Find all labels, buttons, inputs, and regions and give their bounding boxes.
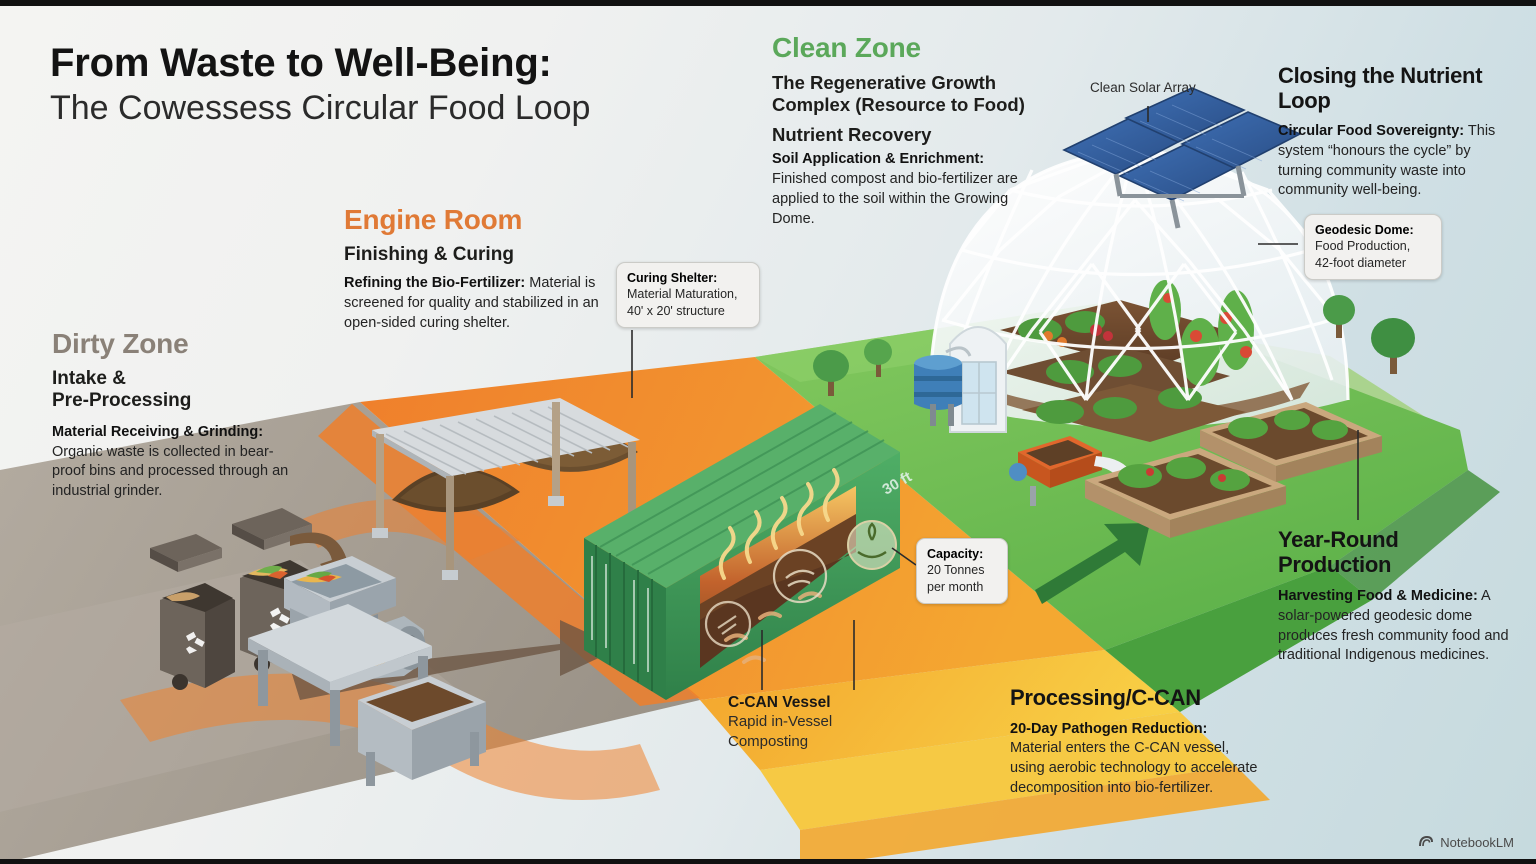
processing-body-lead: 20-Day Pathogen Reduction: [1010, 721, 1207, 737]
closing-loop-body: Circular Food Sovereignty: This system “… [1278, 122, 1510, 201]
engine-room-subtitle: Finishing & Curing [344, 244, 612, 266]
dirty-zone-body-lead: Material Receiving & Grinding: [52, 424, 263, 440]
callout-curing-shelter-lead: Curing Shelter: [627, 271, 717, 285]
clean-zone-block: Clean Zone The Regenerative Growth Compl… [772, 32, 1034, 229]
callout-geodesic-dome-line-3: 42-foot diameter [1315, 256, 1406, 270]
title-line-2: The Cowessess Circular Food Loop [50, 88, 590, 129]
infographic-canvas: 30 ft [0, 0, 1536, 864]
solar-array-label: Clean Solar Array [1090, 80, 1196, 95]
callout-geodesic-dome: Geodesic Dome: Food Production, 42-foot … [1304, 214, 1442, 280]
year-round-body-lead: Harvesting Food & Medicine: [1278, 588, 1478, 604]
processing-heading: Processing/C-CAN [1010, 686, 1258, 711]
watermark-text: NotebookLM [1440, 835, 1514, 850]
clean-zone-body: Soil Application & Enrichment: Finished … [772, 150, 1034, 229]
clean-zone-body-rest: Finished compost and bio-fertilizer are … [772, 171, 1018, 226]
year-round-body: Harvesting Food & Medicine: A solar-powe… [1278, 587, 1514, 666]
closing-loop-body-lead: Circular Food Sovereignty: [1278, 123, 1464, 139]
ccan-vessel-line-2: Rapid in-Vessel [728, 712, 878, 732]
clean-zone-subtitle-1: The Regenerative Growth Complex (Resourc… [772, 72, 1034, 116]
callout-capacity-line-3: per month [927, 580, 983, 594]
title-line-1: From Waste to Well-Being: [50, 42, 590, 84]
clean-zone-subtitle-2: Nutrient Recovery [772, 124, 1034, 146]
ccan-vessel-caption: C-CAN Vessel Rapid in-Vessel Composting [728, 694, 878, 751]
processing-body-rest: Material enters the C-CAN vessel, using … [1010, 740, 1257, 795]
ccan-vessel-title: C-CAN Vessel [728, 694, 878, 712]
engine-room-block: Engine Room Finishing & Curing Refining … [344, 204, 612, 334]
notebooklm-logo-icon [1418, 834, 1434, 850]
dirty-zone-body: Material Receiving & Grinding: Organic w… [52, 423, 302, 502]
closing-loop-block: Closing the Nutrient Loop Circular Food … [1278, 64, 1510, 201]
dirty-zone-label: Dirty Zone [52, 328, 302, 360]
page-title: From Waste to Well-Being: The Cowessess … [50, 42, 590, 129]
callout-geodesic-dome-lead: Geodesic Dome: [1315, 223, 1414, 237]
clean-zone-label: Clean Zone [772, 32, 1034, 64]
callout-capacity-lead: Capacity: [927, 547, 983, 561]
clean-zone-body-lead: Soil Application & Enrichment: [772, 151, 984, 167]
processing-body: 20-Day Pathogen Reduction: Material ente… [1010, 720, 1258, 799]
callout-capacity-line-2: 20 Tonnes [927, 563, 984, 577]
dirty-zone-subtitle: Intake & Pre-Processing [52, 368, 302, 413]
watermark: NotebookLM [1418, 834, 1514, 850]
callout-capacity: Capacity: 20 Tonnes per month [916, 538, 1008, 604]
engine-room-body: Refining the Bio-Fertilizer: Material is… [344, 274, 612, 333]
engine-room-label: Engine Room [344, 204, 612, 236]
dirty-zone-block: Dirty Zone Intake & Pre-Processing Mater… [52, 328, 302, 502]
dirty-zone-body-rest: Organic waste is collected in bear-proof… [52, 444, 288, 499]
closing-loop-heading: Closing the Nutrient Loop [1278, 64, 1510, 113]
year-round-heading: Year-Round Production [1278, 528, 1514, 577]
year-round-block: Year-Round Production Harvesting Food & … [1278, 528, 1514, 666]
callout-geodesic-dome-line-2: Food Production, [1315, 239, 1410, 253]
processing-block: Processing/C-CAN 20-Day Pathogen Reducti… [1010, 686, 1258, 799]
callout-curing-shelter-line-2: Material Maturation, [627, 287, 737, 301]
callout-curing-shelter-line-3: 40' x 20' structure [627, 304, 725, 318]
engine-room-body-lead: Refining the Bio-Fertilizer: [344, 275, 525, 291]
ccan-vessel-line-3: Composting [728, 732, 878, 752]
callout-curing-shelter: Curing Shelter: Material Maturation, 40'… [616, 262, 760, 328]
